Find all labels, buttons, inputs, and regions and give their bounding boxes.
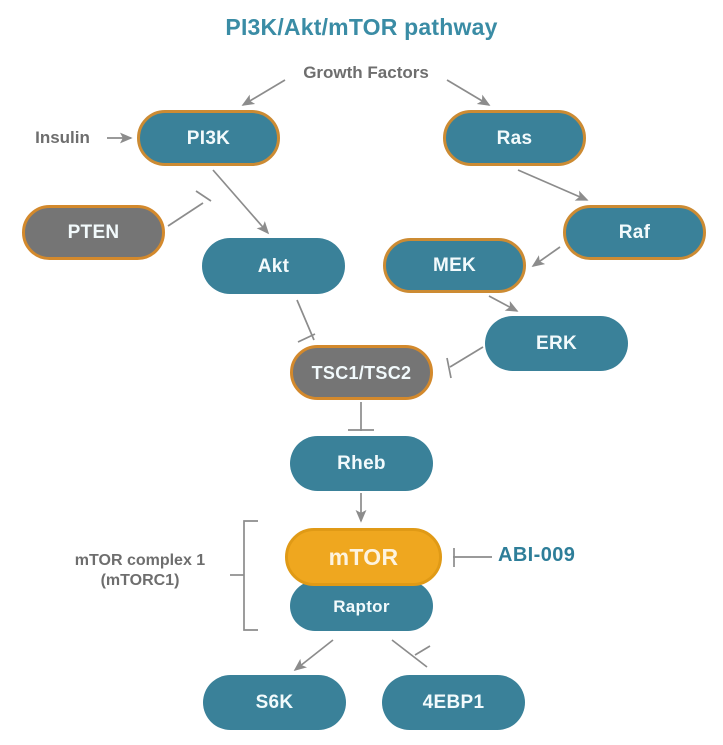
mtorc1-bracket [244, 521, 258, 630]
node-mek[interactable]: MEK [383, 238, 526, 293]
mtorc1-line-2: (mTORC1) [101, 572, 180, 589]
edge-mtorc1-4ebp1-bar [415, 646, 430, 655]
label-mtor-complex-1: mTOR complex 1 (mTORC1) [55, 551, 225, 591]
label-insulin: Insulin [20, 127, 105, 148]
edge-erk-tsc-bar [447, 358, 451, 378]
label-abi-009: ABI-009 [498, 544, 575, 567]
node-mtor[interactable]: mTOR [285, 528, 442, 586]
edge-pten-inhibit-bar [196, 191, 211, 201]
edge-pi3k-akt [213, 170, 268, 233]
edge-akt-tsc-bar [298, 334, 315, 342]
node-pi3k[interactable]: PI3K [137, 110, 280, 166]
node-ras[interactable]: Ras [443, 110, 586, 166]
edge-erk-tsc [450, 347, 483, 367]
node-s6k[interactable]: S6K [203, 675, 346, 730]
node-tsc[interactable]: TSC1/TSC2 [290, 345, 433, 400]
edge-mtorc1-4ebp1 [392, 640, 427, 667]
node-raptor[interactable]: Raptor [290, 581, 433, 631]
edge-gf-ras [447, 80, 489, 105]
edge-mek-erk [489, 296, 517, 311]
node-erk[interactable]: ERK [485, 316, 628, 371]
edge-ras-raf [518, 170, 587, 200]
node-raf[interactable]: Raf [563, 205, 706, 260]
edge-mtorc1-s6k [295, 640, 333, 670]
label-growth-factors: Growth Factors [281, 62, 451, 83]
edge-raf-mek [533, 247, 560, 266]
edge-gf-pi3k [243, 80, 285, 105]
edge-akt-tsc [297, 300, 314, 340]
pathway-diagram: PI3K/Akt/mTOR pathway [0, 0, 723, 745]
node-pten[interactable]: PTEN [22, 205, 165, 260]
node-rheb[interactable]: Rheb [290, 436, 433, 491]
edge-pten-inhibit [168, 203, 203, 226]
page-title: PI3K/Akt/mTOR pathway [0, 14, 723, 41]
node-akt[interactable]: Akt [202, 238, 345, 294]
mtorc1-line-1: mTOR complex 1 [75, 552, 205, 569]
node-4ebp1[interactable]: 4EBP1 [382, 675, 525, 730]
